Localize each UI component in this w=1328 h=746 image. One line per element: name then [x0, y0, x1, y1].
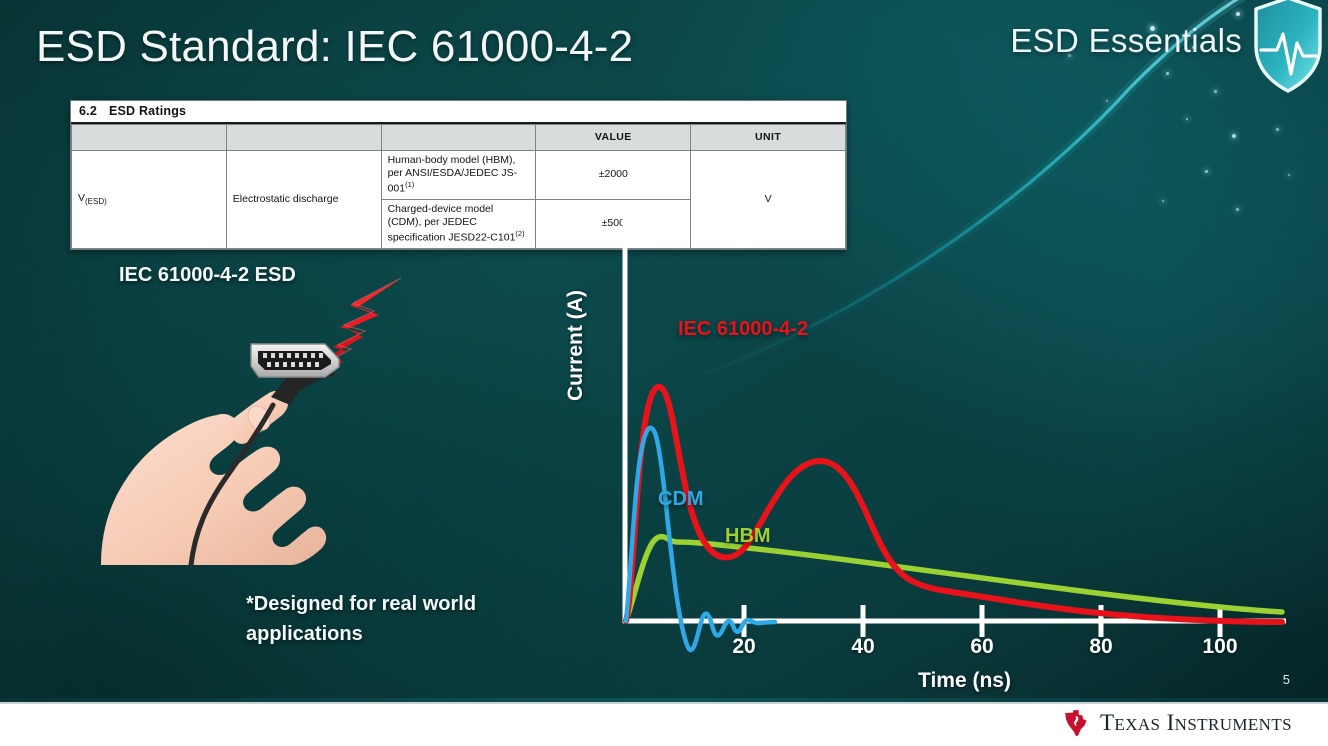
section-title: ESD Ratings: [109, 104, 186, 118]
header-blank-parameter: [226, 125, 381, 151]
cell-value-hbm: ±2000: [536, 151, 691, 200]
x-tick-label-20: 20: [732, 635, 755, 659]
x-tick-label-40: 40: [851, 635, 874, 659]
logo-exas: EXAS: [1114, 715, 1160, 734]
table-header-row: VALUE UNIT: [72, 125, 846, 151]
cell-description-hbm: Human-body model (HBM), per ANSI/ESDA/JE…: [381, 151, 536, 200]
header-blank-symbol: [72, 125, 227, 151]
x-tick-label-100: 100: [1202, 635, 1237, 659]
series-iec-curve: [626, 387, 1282, 622]
cell-description-cdm: Charged-device model (CDM), per JEDEC sp…: [381, 199, 536, 248]
logo-t: T: [1100, 710, 1114, 735]
series-label-iec: IEC 61000-4-2: [678, 318, 808, 341]
page-title: ESD Standard: IEC 61000-4-2: [36, 22, 633, 72]
chart-canvas: [570, 205, 1310, 695]
hand-hdmi-esd-illustration: [95, 265, 435, 565]
section-number: 6.2: [79, 104, 97, 118]
cdm-description: Charged-device model (CDM), per JEDEC sp…: [388, 203, 516, 244]
series-label-hbm: HBM: [725, 525, 771, 548]
logo-i: I: [1167, 710, 1175, 735]
x-tick-label-80: 80: [1089, 635, 1112, 659]
symbol-subscript: (ESD): [85, 197, 107, 206]
lightning-bolt-icon: [323, 278, 401, 365]
cdm-footnote: (2): [515, 229, 524, 238]
symbol-text: V: [78, 192, 85, 204]
texas-instruments-logo: TEXAS INSTRUMENTS: [1061, 708, 1292, 738]
chart-y-axis-label: Current (A): [564, 290, 588, 401]
shield-heartbeat-icon: [1250, 0, 1326, 98]
hdmi-connector-icon: [251, 344, 339, 405]
slide-number: 5: [1283, 672, 1290, 687]
illustration-note: *Designed for real world applications: [246, 589, 546, 649]
cell-parameter: Electrostatic discharge: [226, 151, 381, 249]
series-hbm-curve: [626, 537, 1282, 621]
chart-axes: [623, 217, 1286, 623]
slide-root: ESD Standard: IEC 61000-4-2 ESD Essentia…: [0, 0, 1328, 746]
texas-state-icon: [1061, 708, 1091, 738]
brand-label: ESD Essentials: [1010, 22, 1242, 60]
logo-nstruments: NSTRUMENTS: [1175, 715, 1292, 734]
hbm-footnote: (1): [405, 180, 414, 189]
hand-icon: [101, 391, 326, 565]
logo-wordmark: TEXAS INSTRUMENTS: [1100, 710, 1292, 736]
table-section-heading: 6.2ESD Ratings: [71, 101, 846, 124]
series-label-cdm: CDM: [658, 488, 704, 511]
chart-x-axis-label: Time (ns): [918, 669, 1011, 693]
esd-waveform-chart: Current (A) Time (ns) 20 40 60 80 100 IE…: [570, 205, 1310, 695]
table-row: V(ESD) Electrostatic discharge Human-bod…: [72, 151, 846, 200]
header-value: VALUE: [536, 125, 691, 151]
cell-symbol: V(ESD): [72, 151, 227, 249]
header-blank-description: [381, 125, 536, 151]
x-tick-label-60: 60: [970, 635, 993, 659]
header-unit: UNIT: [691, 125, 846, 151]
